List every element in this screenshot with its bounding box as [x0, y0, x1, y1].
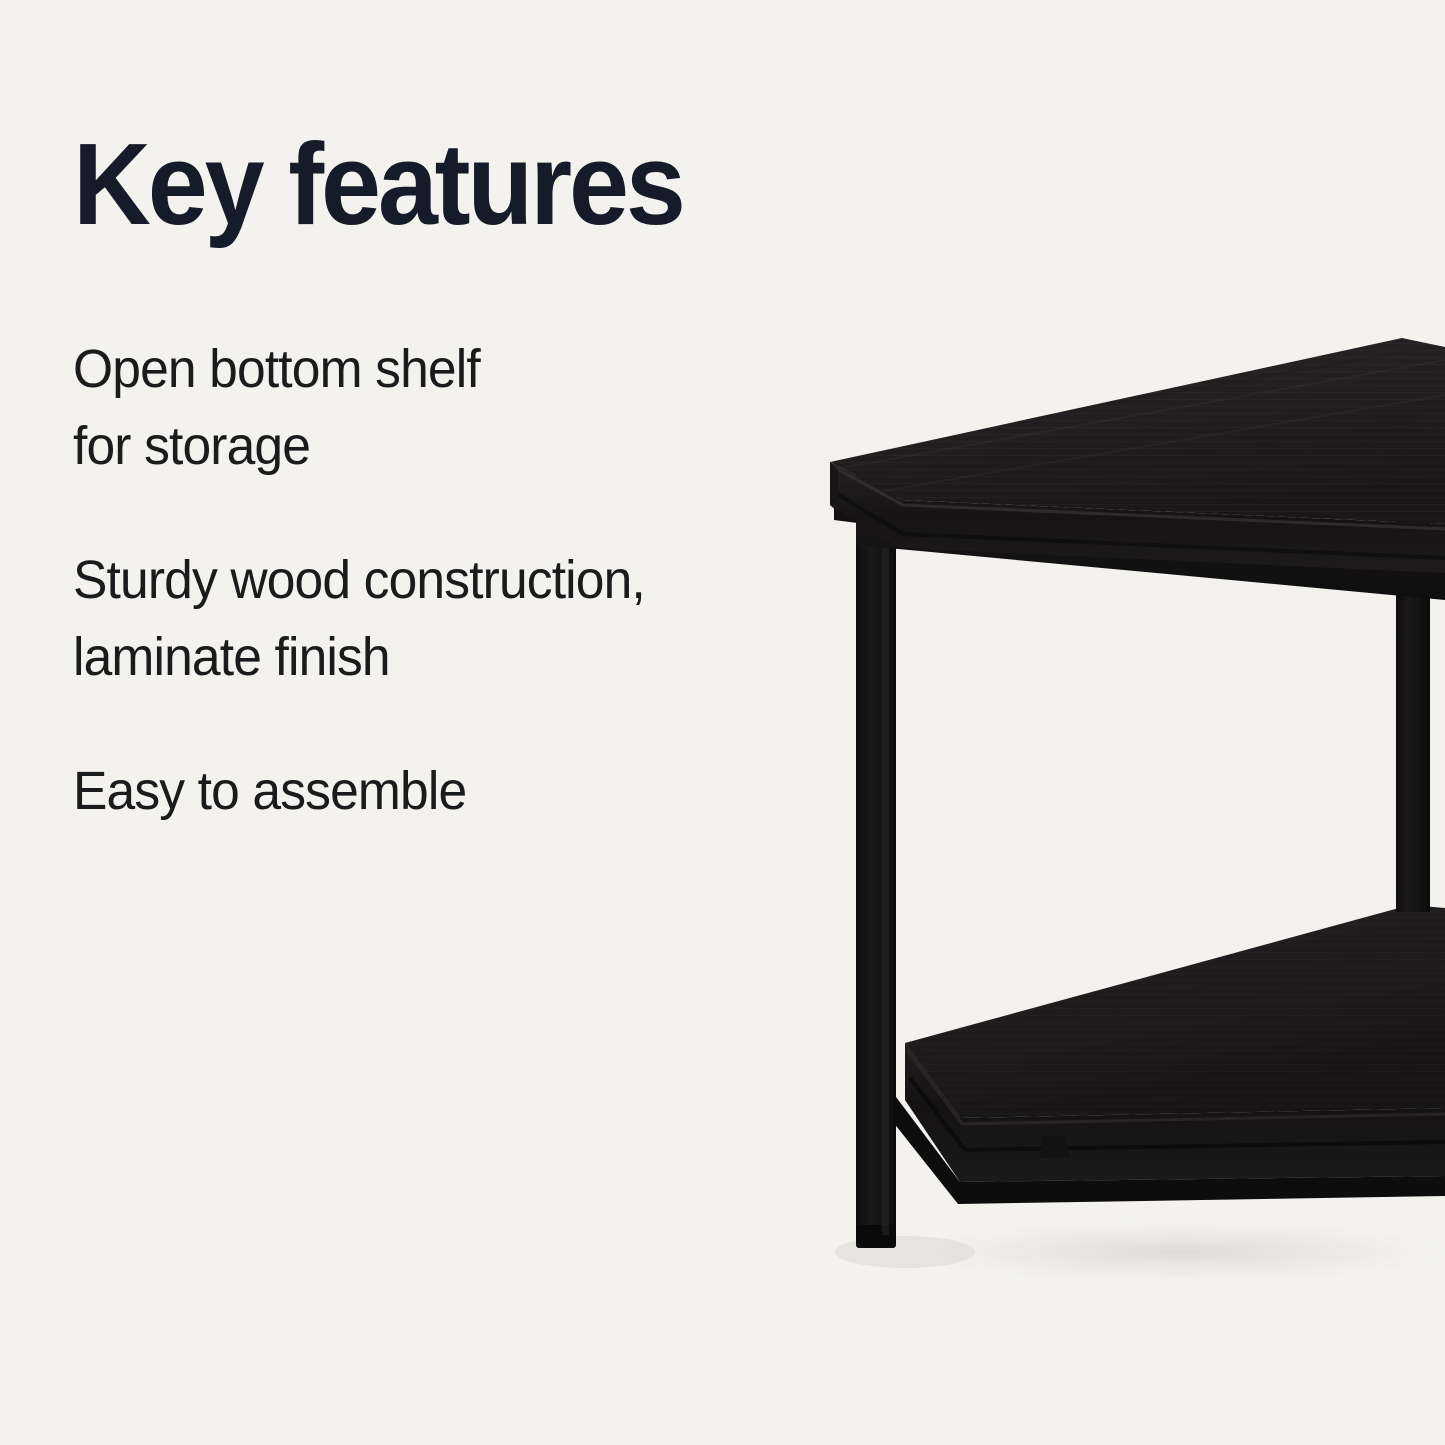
feature-item-open-bottom-shelf: Open bottom shelf for storage [73, 331, 799, 485]
feature-list: Open bottom shelf for storage Sturdy woo… [73, 331, 833, 830]
bottom-shelf [830, 890, 1445, 1204]
table-leg-front-left [856, 470, 896, 1248]
text-column: Key features Open bottom shelf for stora… [73, 0, 813, 1445]
page-title: Key features [73, 126, 683, 242]
feature-item-easy-to-assemble: Easy to assemble [73, 753, 799, 830]
table-top [820, 330, 1445, 573]
feature-item-sturdy-wood-construction: Sturdy wood construction, laminate finis… [73, 542, 799, 696]
marketing-card: Key features Open bottom shelf for stora… [0, 0, 1445, 1445]
shelf-bracket-tab [1040, 1136, 1070, 1158]
